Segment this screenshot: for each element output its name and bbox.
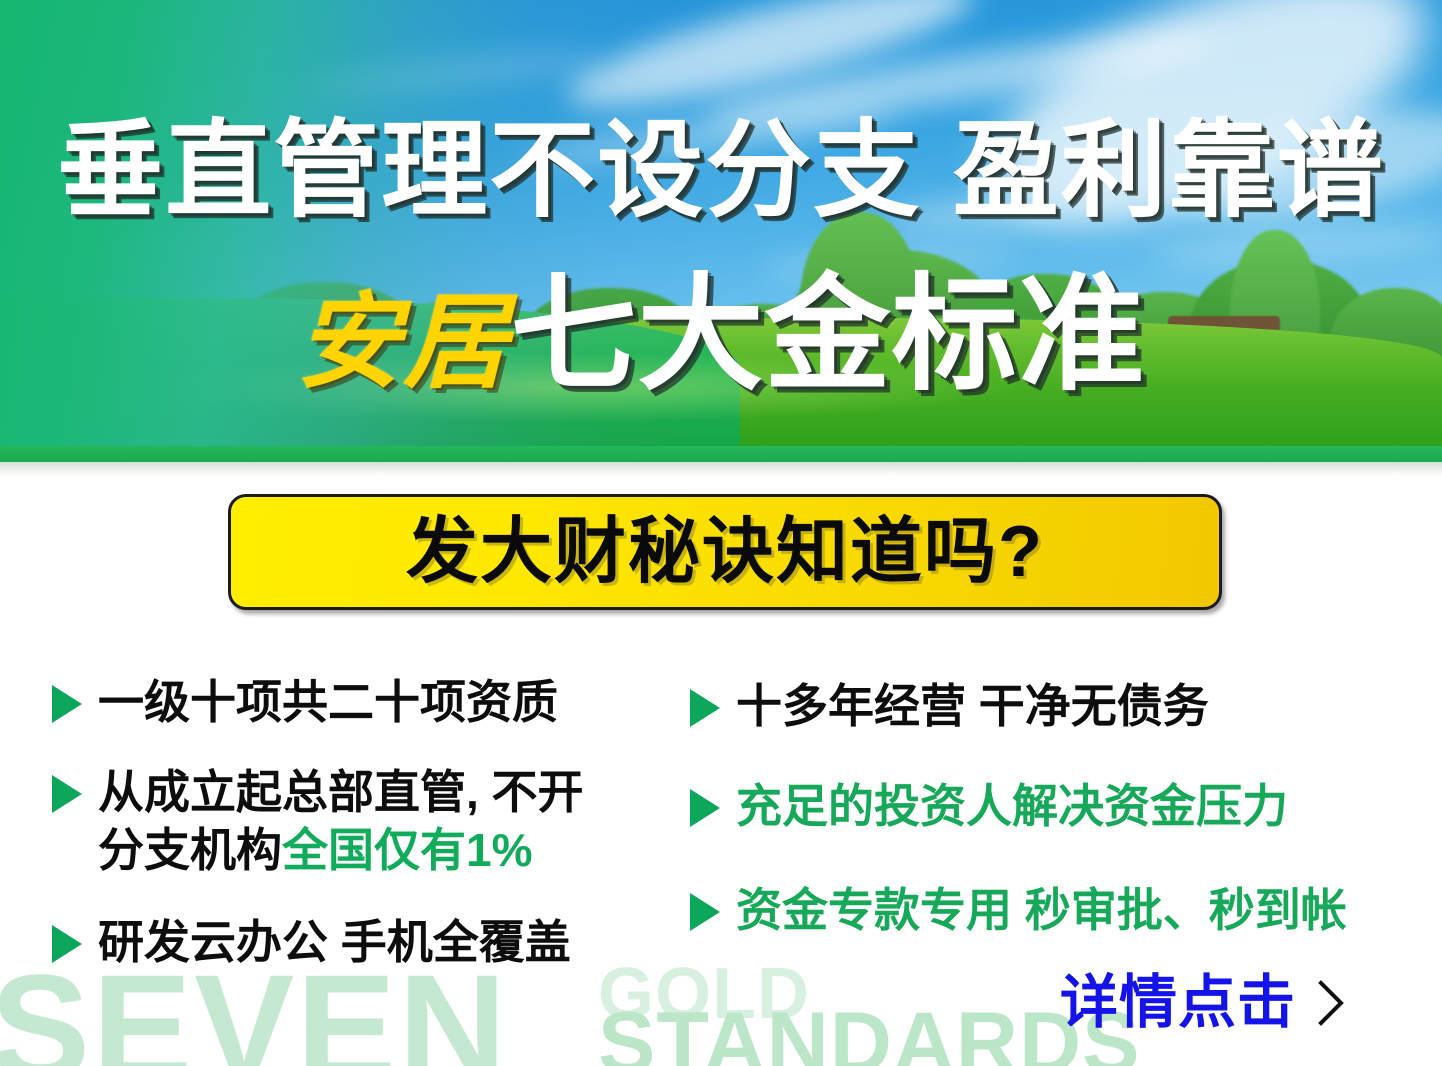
features-column-left: 一级十项共二十项资质 从成立起总部直管, 不开 分支机构全国仅有1% 研发云办公… [52,660,692,972]
triangle-bullet-icon [690,689,720,727]
headline-callout-banner[interactable]: 发大财秘诀知道吗? [228,494,1222,610]
features-column-right: 十多年经营 干净无债务 充足的投资人解决资金压力 资金专款专用 秒审批、秒到帐 [690,660,1430,940]
chevron-right-icon [1318,980,1344,1026]
hero-drop-shadow [0,462,1442,476]
callout-banner-text: 发大财秘诀知道吗? [406,516,1044,588]
feature-text-highlight: 全国仅有1% [282,824,532,876]
hero-section: 垂直管理不设分支 盈利靠谱 安居七大金标准 [0,0,1442,462]
triangle-bullet-icon [690,893,720,931]
feature-item: 十多年经营 干净无债务 [690,678,1430,736]
feature-item: 资金专款专用 秒审批、秒到帐 [690,882,1430,940]
headline-line-2: 安居七大金标准 [0,272,1442,398]
headline-line-1: 垂直管理不设分支 盈利靠谱 [0,118,1442,224]
cta-label: 详情点击 [1060,974,1296,1032]
feature-text: 十多年经营 干净无债务 [736,678,1209,736]
brand-prefix-text: 安居 [296,285,510,401]
ad-banner-page: 垂直管理不设分支 盈利靠谱 安居七大金标准 发大财秘诀知道吗? 一级十项共二十项… [0,0,1442,1066]
feature-text: 一级十项共二十项资质 [98,674,558,732]
details-cta-button[interactable]: 详情点击 [1060,974,1344,1032]
feature-text: 充足的投资人解决资金压力 [736,778,1288,836]
triangle-bullet-icon [52,775,82,813]
triangle-bullet-icon [52,685,82,723]
feature-item: 一级十项共二十项资质 [52,674,692,732]
feature-item: 从成立起总部直管, 不开 分支机构全国仅有1% [52,764,692,880]
feature-item: 充足的投资人解决资金压力 [690,778,1430,836]
feature-text: 资金专款专用 秒审批、秒到帐 [736,882,1347,940]
triangle-bullet-icon [690,789,720,827]
hero-headline-group: 垂直管理不设分支 盈利靠谱 安居七大金标准 [0,0,1442,462]
feature-text: 从成立起总部直管, 不开 分支机构全国仅有1% [98,764,584,880]
watermark-seven: SEVEN [0,952,509,1066]
headline-main-text: 七大金标准 [511,264,1146,405]
